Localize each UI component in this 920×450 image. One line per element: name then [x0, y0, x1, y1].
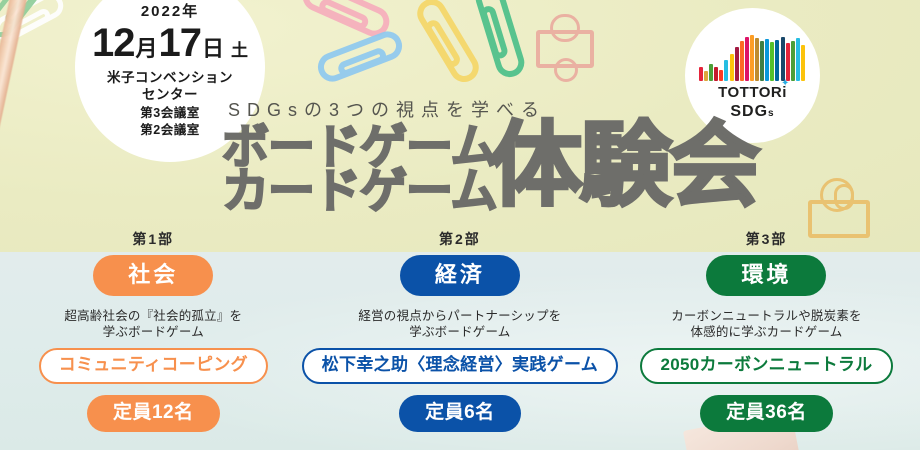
theme-pill-2: 経済 [400, 255, 520, 296]
event-weekday: 土 [231, 42, 248, 59]
map-stripe [796, 38, 800, 81]
headline-emphasis: 体験会 [491, 124, 758, 209]
map-stripe [735, 47, 739, 81]
section-description-3-line-1: カーボンニュートラルや脱炭素を [671, 308, 862, 324]
theme-pill-3: 環境 [706, 255, 826, 296]
map-stripe [781, 37, 785, 81]
event-year: 2022年 [75, 4, 265, 19]
map-stripe [750, 35, 754, 81]
event-day-unit: 日 [202, 38, 224, 60]
map-stripe [775, 40, 779, 81]
map-stripe [765, 39, 769, 81]
map-stripe [740, 41, 744, 81]
map-stripe [801, 45, 805, 81]
part-label-2: 第2部 [439, 232, 481, 246]
map-stripe [786, 43, 790, 81]
headline-lines: ボードゲーム カードゲーム [222, 126, 497, 214]
event-month-number: 12 [92, 23, 135, 63]
section-description-2: 経営の視点からパートナーシップを 学ぶボードゲーム [358, 308, 561, 340]
section-column-2: 第2部 経済 経営の視点からパートナーシップを 学ぶボードゲーム 松下幸之助〈理… [307, 232, 614, 432]
section-description-3: カーボンニュートラルや脱炭素を 体感的に学ぶカードゲーム [671, 308, 862, 340]
capacity-pill-1: 定員12名 [87, 395, 220, 432]
part-label-3: 第3部 [746, 232, 788, 246]
poster-headline: ボードゲーム カードゲーム 体験会 [222, 126, 758, 214]
sections-row: 第1部 社会 超高齢社会の『社会的孤立』を 学ぶボードゲーム コミュニティコーピ… [0, 232, 920, 432]
section-description-3-line-2: 体感的に学ぶカードゲーム [671, 324, 862, 340]
section-column-3: 第3部 環境 カーボンニュートラルや脱炭素を 体感的に学ぶカードゲーム 2050… [613, 232, 920, 432]
binder-clip-rose [534, 18, 596, 76]
map-stripe [760, 41, 764, 81]
map-stripe [730, 54, 734, 81]
poster-root: 2022年 12 月 17 日 土 米子コンベンション センター 第3会議室 第… [0, 0, 920, 450]
map-stripe [699, 67, 703, 81]
section-description-1-line-1: 超高齢社会の『社会的孤立』を [64, 308, 242, 324]
venue-line-1: 米子コンベンション [75, 70, 265, 87]
map-stripe [755, 38, 759, 81]
part-label-1: 第1部 [132, 232, 174, 246]
section-description-1: 超高齢社会の『社会的孤立』を 学ぶボードゲーム [64, 308, 242, 340]
map-stripe [714, 67, 718, 81]
game-name-pill-1: コミュニティコーピング [39, 348, 268, 383]
section-description-2-line-2: 学ぶボードゲーム [358, 324, 561, 340]
event-month-unit: 月 [135, 38, 157, 60]
section-description-2-line-1: 経営の視点からパートナーシップを [358, 308, 561, 324]
logo-tottori-label: TOTTORi [718, 84, 787, 101]
event-day-number: 17 [159, 23, 202, 63]
capacity-pill-2: 定員6名 [399, 395, 521, 432]
map-stripe [719, 70, 723, 81]
logo-sdg-s: s [768, 108, 775, 119]
section-column-1: 第1部 社会 超高齢社会の『社会的孤立』を 学ぶボードゲーム コミュニティコーピ… [0, 232, 307, 432]
logo-text-tottori: TOTTORi ✦ [718, 85, 787, 100]
map-stripe [770, 42, 774, 81]
star-icon: ✦ [781, 79, 790, 89]
map-stripe [704, 71, 708, 81]
map-stripe [724, 60, 728, 81]
section-description-1-line-2: 学ぶボードゲーム [64, 324, 242, 340]
tottori-map-icon [699, 29, 807, 81]
game-name-pill-2: 松下幸之助〈理念経営〉実践ゲーム [302, 348, 618, 383]
capacity-pill-3: 定員36名 [700, 395, 833, 432]
map-stripe [745, 37, 749, 81]
headline-line-2: カードゲーム [222, 170, 497, 214]
map-stripe [709, 64, 713, 81]
game-name-pill-3: 2050カーボンニュートラル [640, 348, 892, 383]
theme-pill-1: 社会 [93, 255, 213, 296]
binder-clip-gold [806, 178, 872, 240]
event-date: 12 月 17 日 土 [75, 23, 265, 63]
map-stripe [791, 41, 795, 81]
